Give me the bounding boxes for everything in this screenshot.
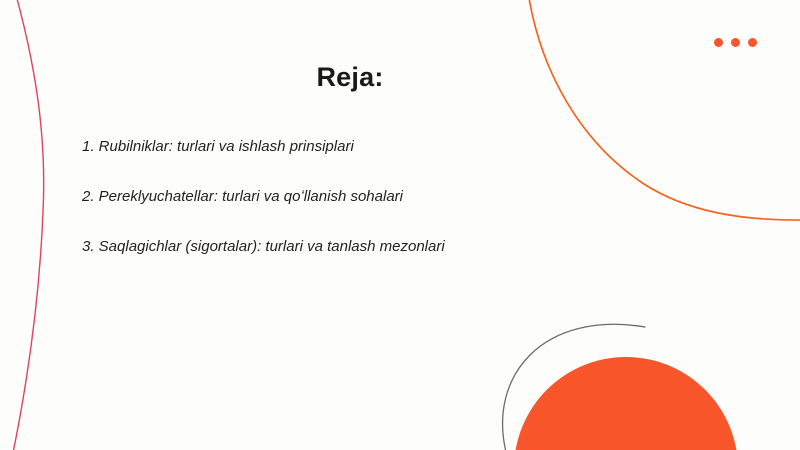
page-title: Reja: — [60, 62, 640, 93]
list-item: 1. Rubilniklar: turlari va ishlash prins… — [82, 137, 552, 156]
slide-canvas: Reja: 1. Rubilniklar: turlari va ishlash… — [0, 0, 800, 450]
slide-content: Reja: 1. Rubilniklar: turlari va ishlash… — [0, 0, 800, 450]
list-item: 3. Saqlagichlar (sigortalar): turlari va… — [82, 237, 552, 256]
agenda-list: 1. Rubilniklar: turlari va ishlash prins… — [82, 137, 552, 287]
list-item: 2. Pereklyuchatellar: turlari va qoʻllan… — [82, 187, 552, 206]
